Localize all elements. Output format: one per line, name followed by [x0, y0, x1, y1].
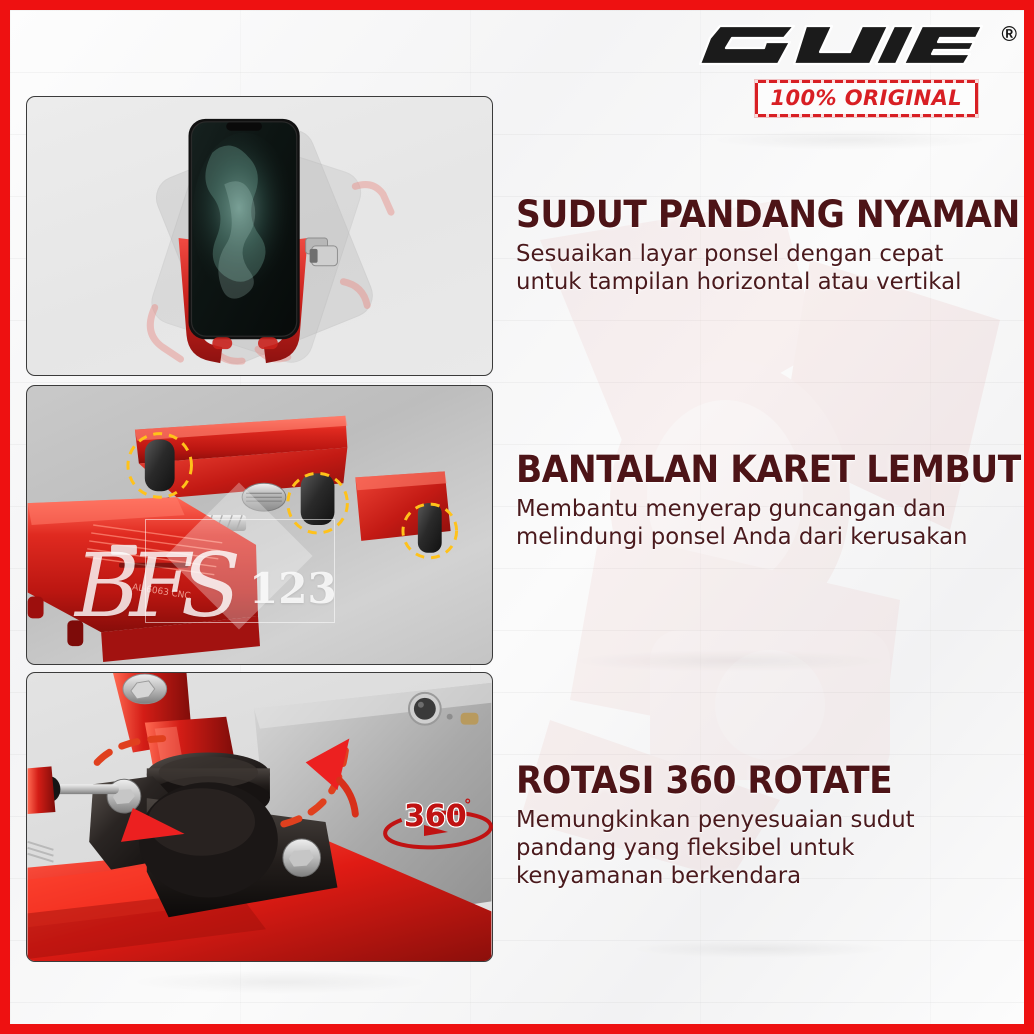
phone-rotation-illustration [27, 97, 492, 375]
feature-body-line: melindungi ponsel Anda dari kerusakan [516, 522, 968, 550]
feature-block-rotasi-360-rotate: ROTASI 360 ROTATE Memungkinkan penyesuai… [516, 762, 1021, 889]
gub-logo [686, 20, 986, 70]
feature-title: ROTASI 360 ROTATE [516, 762, 986, 800]
feature-body-line: Membantu menyerap guncangan dan [516, 494, 946, 522]
feature-body-line: Memungkinkan penyesuaian sudut [516, 805, 915, 833]
wood-grain-streak [570, 650, 890, 672]
camera-lens-icon [409, 693, 441, 725]
rotation-joint-illustration [27, 673, 492, 961]
original-badge: 100% ORIGINAL [755, 80, 978, 117]
feature-body-line: kenyamanan berkendara [516, 861, 801, 889]
panel-360-joint[interactable] [26, 672, 493, 962]
feature-title: SUDUT PANDANG NYAMAN [516, 196, 986, 234]
feature-body: Membantu menyerap guncangan dan melindun… [516, 494, 1006, 550]
rubber-pad [145, 440, 175, 492]
feature-body-line: Sesuaikan layar ponsel dengan cepat [516, 239, 943, 267]
threaded-shaft-icon [28, 842, 54, 862]
wood-grain-streak [130, 970, 430, 994]
panel-phone-rotation[interactable] [26, 96, 493, 376]
wood-grain-streak [630, 940, 890, 958]
infographic-canvas: ® 100% ORIGINAL [10, 10, 1024, 1024]
screw-icon [283, 839, 321, 877]
brand-header: ® 100% ORIGINAL [650, 18, 1020, 110]
feature-block-bantalan-karet-lembut: BANTALAN KARET LEMBUT Membantu menyerap … [516, 451, 1021, 550]
feature-title: BANTALAN KARET LEMBUT [516, 451, 986, 489]
panel-rubber-pads[interactable]: AL-6063 CNC BFS 123 [26, 385, 493, 665]
wood-grain-streak [710, 130, 990, 150]
feature-block-sudut-pandang-nyaman: SUDUT PANDANG NYAMAN Sesuaikan layar pon… [516, 196, 1021, 295]
feature-body: Sesuaikan layar ponsel dengan cepat untu… [516, 239, 1006, 295]
feature-body-line: untuk tampilan horizontal atau vertikal [516, 267, 961, 295]
rubber-pad [418, 503, 442, 553]
registered-trademark-icon: ® [1002, 24, 1017, 45]
feature-body-line: pandang yang fleksibel untuk [516, 833, 854, 861]
rubber-pad [301, 473, 335, 525]
feature-body: Memungkinkan penyesuaian sudut pandang y… [516, 805, 1006, 890]
product-infographic-page: ® 100% ORIGINAL [0, 0, 1034, 1034]
hex-bolt-icon [123, 674, 167, 704]
